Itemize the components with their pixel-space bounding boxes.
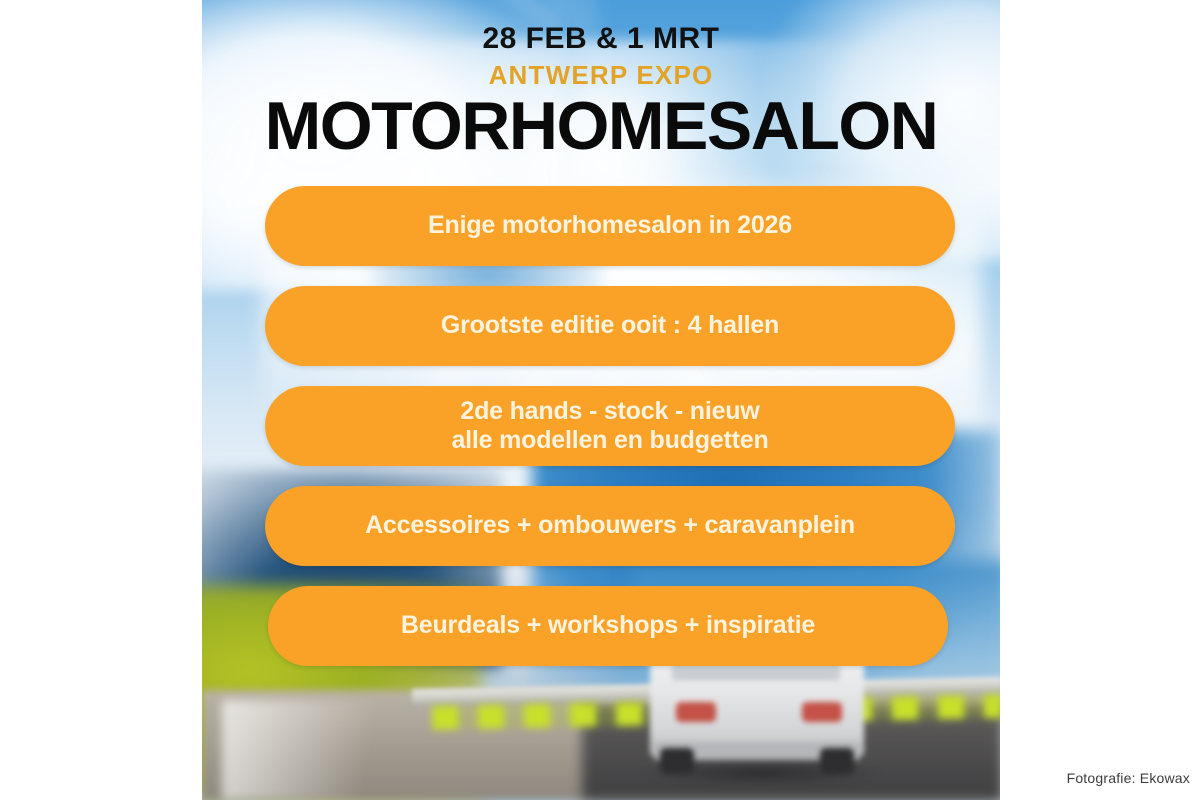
feature-pill-label: 2de hands - stock - nieuw alle modellen … [433, 397, 786, 456]
event-date: 28 FEB & 1 MRT [202, 0, 1000, 56]
feature-pill-label: Grootste editie ooit : 4 hallen [423, 311, 797, 341]
motorhome-taillight-right [802, 702, 842, 722]
motorhome-taillight-left [676, 702, 716, 722]
poster-headline: 28 FEB & 1 MRT ANTWERP EXPO MOTORHOMESAL… [202, 0, 1000, 160]
motorhome-wheel-right [820, 748, 854, 774]
motorhome-vehicle [642, 648, 872, 778]
feature-pill-label: Beurdeals + workshops + inspiratie [383, 611, 833, 641]
feature-pill-accessories: Accessoires + ombouwers + caravanplein [265, 486, 955, 566]
feature-pill-label: Enige motorhomesalon in 2026 [410, 211, 810, 241]
motorhome-wheel-left [660, 748, 694, 774]
page-title: MOTORHOMESALON [202, 91, 1000, 160]
feature-pill-deals: Beurdeals + workshops + inspiratie [268, 586, 948, 666]
photo-credit: Fotografie: Ekowax [1067, 770, 1190, 786]
feature-pill-unique-show: Enige motorhomesalon in 2026 [265, 186, 955, 266]
event-venue: ANTWERP EXPO [202, 56, 1000, 91]
poster-image: 28 FEB & 1 MRT ANTWERP EXPO MOTORHOMESAL… [202, 0, 1000, 800]
feature-pill-label: Accessoires + ombouwers + caravanplein [347, 511, 873, 541]
poster-page: 28 FEB & 1 MRT ANTWERP EXPO MOTORHOMESAL… [0, 0, 1200, 800]
feature-pill-stock-new: 2de hands - stock - nieuw alle modellen … [265, 386, 955, 466]
feature-pill-largest-ever: Grootste editie ooit : 4 hallen [265, 286, 955, 366]
